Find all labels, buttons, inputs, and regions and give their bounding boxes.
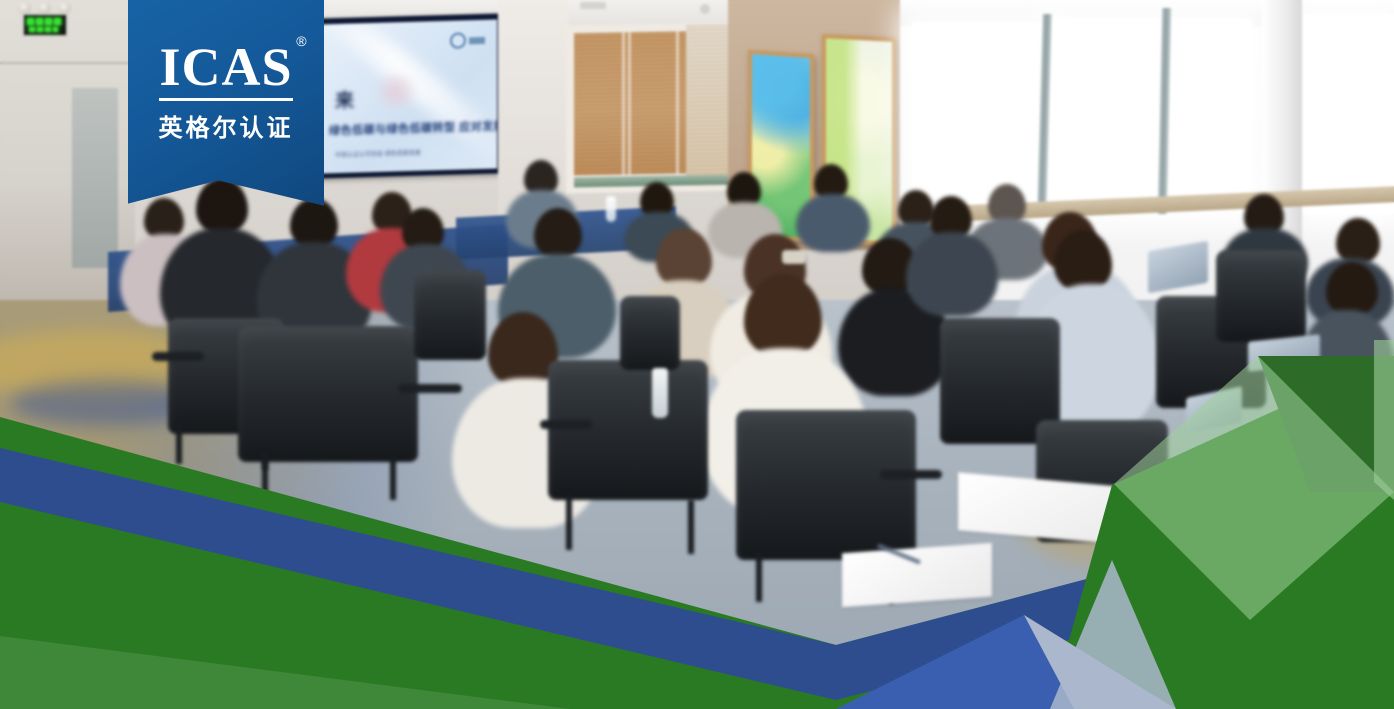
- chair-leg: [390, 456, 396, 500]
- slide-logo: [450, 32, 485, 49]
- window-pane: [912, 22, 1042, 208]
- icas-wordmark-text: ICAS: [159, 37, 292, 97]
- chair-armrest: [152, 352, 204, 361]
- chair: [736, 410, 916, 560]
- chair-leg: [566, 494, 572, 550]
- chair-armrest: [880, 470, 942, 479]
- attendee-head: [1336, 218, 1380, 264]
- screen-glare: [369, 74, 423, 110]
- blind-slit: [622, 32, 625, 174]
- venetian-blinds-pale: [686, 25, 730, 186]
- projection-screen-surface: 来 绿色低碳与绿色低碳转型 应对发展之路 中国认证认可协会 绿色低碳发展: [321, 20, 497, 174]
- icas-wordmark: ICAS ®: [159, 40, 292, 101]
- chair-leg: [756, 552, 762, 602]
- chair: [238, 326, 418, 462]
- ceiling-vent: [700, 4, 710, 14]
- exit-sign-icon: [22, 13, 68, 37]
- chair-armrest: [398, 384, 462, 393]
- icas-logo-block: ICAS ® 英格尔认证: [128, 0, 324, 210]
- door: [72, 88, 118, 268]
- slide-footnote: 中国认证认可协会 绿色低碳发展: [335, 150, 421, 160]
- chair-leg: [176, 424, 182, 464]
- window-pane: [1052, 18, 1252, 214]
- hair-clip: [782, 250, 806, 264]
- chair: [1216, 250, 1306, 342]
- slide-title: 来: [335, 86, 355, 114]
- blind-slit: [676, 32, 679, 174]
- attendee-head: [196, 178, 248, 234]
- attendee-head: [534, 208, 582, 258]
- window-with-blinds: [566, 22, 738, 193]
- slide-logo-mark: [469, 36, 485, 43]
- chair: [548, 360, 708, 500]
- icas-logo: ICAS ® 英格尔认证: [128, 40, 324, 143]
- slide-logo-ring: [450, 32, 466, 48]
- blind-slit: [628, 32, 631, 174]
- registered-trademark-icon: ®: [296, 34, 307, 48]
- attendee-body: [796, 194, 870, 252]
- attendee-body: [906, 232, 998, 316]
- wall-seam: [0, 62, 135, 64]
- chair: [414, 270, 486, 360]
- document-papers: [842, 543, 992, 607]
- ceiling-vent: [580, 2, 606, 9]
- attendee-head: [1326, 262, 1378, 316]
- icas-chinese-name: 英格尔认证: [128, 108, 324, 143]
- chair-armrest: [540, 420, 592, 429]
- window-pane: [1300, 14, 1394, 214]
- water-bottle: [652, 368, 668, 418]
- attendee-head: [656, 228, 712, 288]
- water-bottle: [606, 196, 616, 222]
- projection-screen: 来 绿色低碳与绿色低碳转型 应对发展之路 中国认证认可协会 绿色低碳发展: [316, 13, 502, 178]
- chair-leg: [262, 452, 268, 498]
- attendee-head: [1054, 230, 1112, 292]
- chair-leg: [688, 500, 694, 554]
- chair: [620, 296, 680, 370]
- attendee-head: [290, 198, 338, 248]
- banner-canvas: 来 绿色低碳与绿色低碳转型 应对发展之路 中国认证认可协会 绿色低碳发展: [0, 0, 1394, 709]
